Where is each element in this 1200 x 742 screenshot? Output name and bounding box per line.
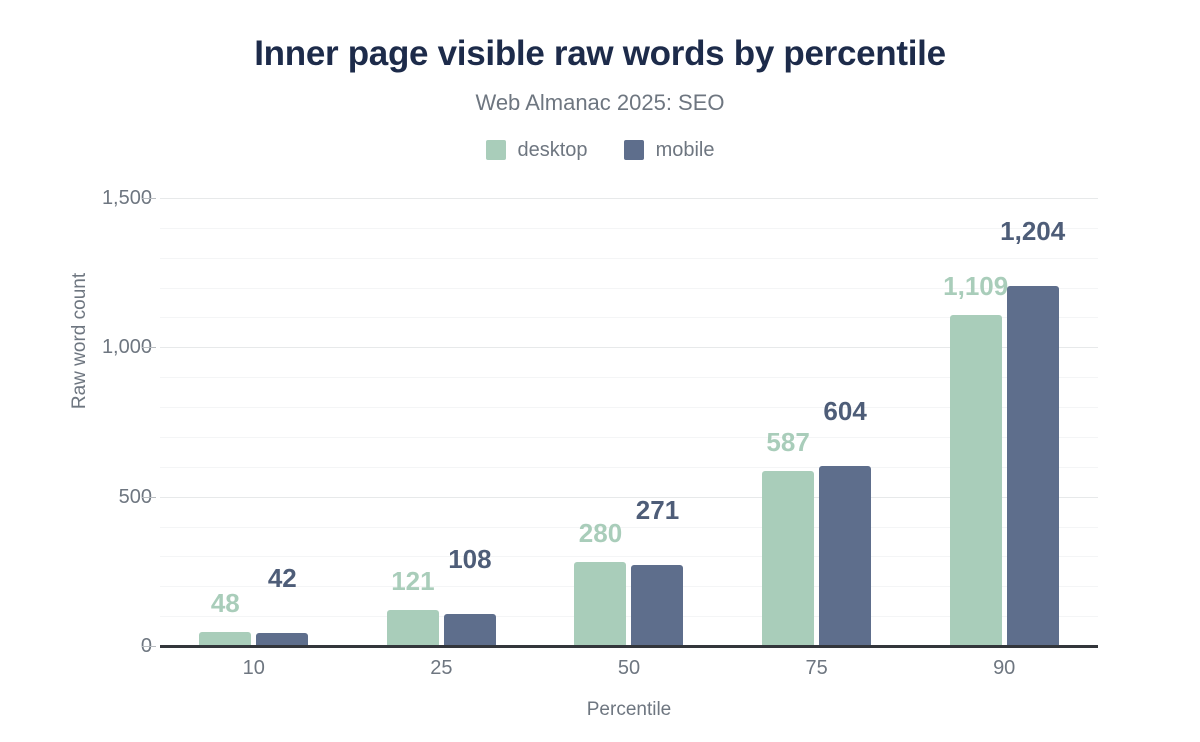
bar-value-label-desktop-50: 280 [579,518,622,548]
legend-swatch-mobile [624,140,644,160]
y-tick-1,000: 1,000 [32,337,152,357]
bar-desktop-50[interactable]: 280 [574,198,626,646]
bar-value-label-mobile-75: 604 [823,396,866,426]
bar-desktop-10[interactable]: 48 [199,198,251,646]
bar-rect-mobile-25[interactable] [444,614,496,646]
bar-value-label-desktop-75: 587 [766,427,809,457]
x-tick-90: 90 [993,656,1015,680]
x-tick-25: 25 [430,656,452,680]
bar-mobile-75[interactable]: 604 [819,198,871,646]
x-tick-50: 50 [618,656,640,680]
legend-swatch-desktop [486,140,506,160]
bar-value-label-mobile-90: 1,204 [1000,216,1065,246]
x-tick-75: 75 [805,656,827,680]
bar-mobile-50[interactable]: 271 [631,198,683,646]
bar-value-label-desktop-10: 48 [211,588,240,618]
y-axis-title: Raw word count [69,241,91,441]
bar-group-75: 587604 [723,198,911,646]
bar-mobile-25[interactable]: 108 [444,198,496,646]
legend-item-mobile[interactable]: mobile [624,140,715,160]
bar-group-25: 121108 [348,198,536,646]
legend-label-desktop: desktop [518,140,588,160]
bar-value-label-mobile-10: 42 [268,563,297,593]
x-axis-title: Percentile [160,698,1098,722]
bar-rect-mobile-50[interactable] [631,565,683,646]
y-tick-dash [142,198,156,199]
y-tick-500: 500 [32,487,152,507]
bar-rect-desktop-75[interactable] [762,471,814,646]
y-tick-dash [142,497,156,498]
bar-desktop-90[interactable]: 1,109 [950,198,1002,646]
bar-rect-mobile-90[interactable] [1007,286,1059,646]
y-tick-0: 0 [32,636,152,656]
bar-group-90: 1,1091,204 [910,198,1098,646]
chart-subtitle: Web Almanac 2025: SEO [0,88,1200,118]
y-tick-dash [142,646,156,647]
y-tick-1,500: 1,500 [32,188,152,208]
bar-rect-mobile-75[interactable] [819,466,871,646]
bar-rect-desktop-10[interactable] [199,632,251,646]
x-tick-10: 10 [243,656,265,680]
bar-rect-desktop-90[interactable] [950,315,1002,646]
bar-value-label-desktop-25: 121 [391,566,434,596]
x-axis-line [160,645,1098,648]
bar-desktop-25[interactable]: 121 [387,198,439,646]
plot-area: 48421211082802715876041,1091,204 [160,198,1098,646]
bar-chart: Inner page visible raw words by percenti… [0,0,1200,742]
bar-value-label-mobile-50: 271 [636,495,679,525]
chart-title: Inner page visible raw words by percenti… [0,32,1200,76]
bar-rect-desktop-25[interactable] [387,610,439,646]
bar-mobile-10[interactable]: 42 [256,198,308,646]
bar-group-50: 280271 [535,198,723,646]
legend-label-mobile: mobile [656,140,715,160]
chart-legend: desktopmobile [0,140,1200,160]
bar-rect-desktop-50[interactable] [574,562,626,646]
bar-value-label-mobile-25: 108 [448,544,491,574]
legend-item-desktop[interactable]: desktop [486,140,588,160]
bar-group-10: 4842 [160,198,348,646]
y-tick-dash [142,347,156,348]
bar-value-label-desktop-90: 1,109 [943,271,1008,301]
bar-desktop-75[interactable]: 587 [762,198,814,646]
bar-mobile-90[interactable]: 1,204 [1007,198,1059,646]
